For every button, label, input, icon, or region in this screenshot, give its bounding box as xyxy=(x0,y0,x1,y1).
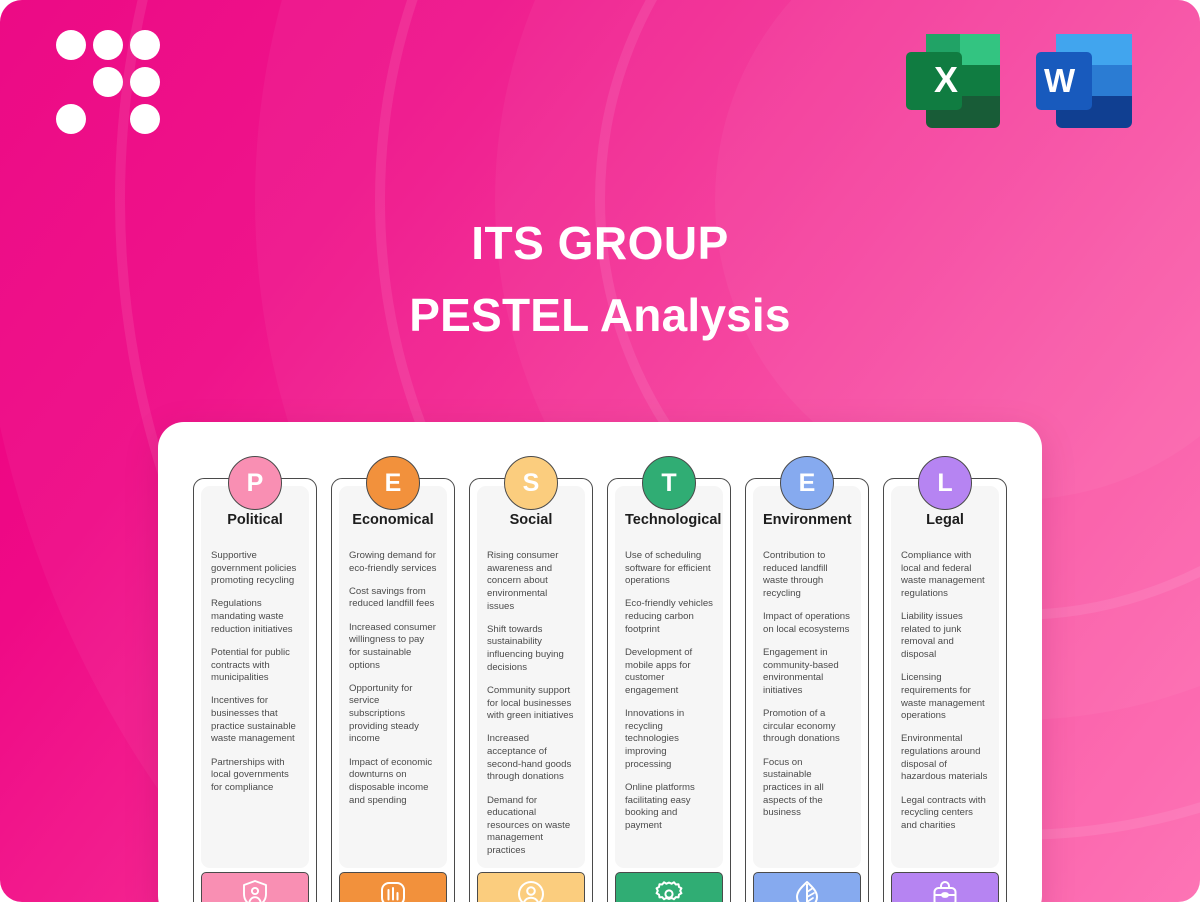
pestel-column-social[interactable]: SocialRising consumer awareness and conc… xyxy=(469,456,593,902)
pestel-bullet: Compliance with local and federal waste … xyxy=(901,550,989,601)
pestel-column-political[interactable]: PoliticalSupportive government policies … xyxy=(193,456,317,902)
poster-heading: ITS GROUP PESTEL Analysis xyxy=(0,218,1200,341)
pestel-bullet: Increased consumer willingness to pay fo… xyxy=(349,622,437,673)
pestel-bullet: Potential for public contracts with muni… xyxy=(211,647,299,685)
pestel-column-environment[interactable]: EnvironmentContribution to reduced landf… xyxy=(745,456,869,902)
pestel-panel: PoliticalSupportive government policies … xyxy=(158,422,1042,902)
pestel-card-body: TechnologicalUse of scheduling software … xyxy=(615,486,723,868)
title-line-two: PESTEL Analysis xyxy=(0,290,1200,342)
pestel-column-title: Technological xyxy=(625,512,713,528)
pestel-letter-badge: T xyxy=(642,456,696,510)
pestel-bullet: Partnerships with local governments for … xyxy=(211,757,299,795)
pestel-letter-badge: L xyxy=(918,456,972,510)
bar-chart-icon xyxy=(378,879,408,902)
person-circle-icon xyxy=(516,879,546,902)
pestel-bullet-list: Growing demand for eco-friendly services… xyxy=(349,550,437,807)
pestel-column-title: Legal xyxy=(901,512,989,528)
pestel-card: EnvironmentContribution to reduced landf… xyxy=(745,478,869,902)
pestel-bullet: Impact of operations on local ecosystems xyxy=(763,611,851,636)
pestel-icon-tile[interactable] xyxy=(201,872,309,902)
pestel-icon-tile[interactable] xyxy=(615,872,723,902)
pestel-bullet: Shift towards sustainability influencing… xyxy=(487,624,575,675)
pestel-column-title: Economical xyxy=(349,512,437,528)
pestel-bullet: Demand for educational resources on wast… xyxy=(487,795,575,858)
pestel-bullet: Cost savings from reduced landfill fees xyxy=(349,586,437,611)
pestel-bullet: Contribution to reduced landfill waste t… xyxy=(763,550,851,601)
pestel-card-body: LegalCompliance with local and federal w… xyxy=(891,486,999,868)
pestel-bullet-list: Use of scheduling software for efficient… xyxy=(625,550,713,832)
pestel-bullet: Growing demand for eco-friendly services xyxy=(349,550,437,575)
pestel-bullet-list: Supportive government policies promoting… xyxy=(211,550,299,795)
its-group-dot-logo xyxy=(56,30,160,134)
pestel-bullet-list: Rising consumer awareness and concern ab… xyxy=(487,550,575,858)
pestel-bullet: Promotion of a circular economy through … xyxy=(763,708,851,746)
pestel-bullet: Innovations in recycling technologies im… xyxy=(625,708,713,771)
pestel-bullet: Engagement in community-based environmen… xyxy=(763,647,851,698)
pestel-bullet: Legal contracts with recycling centers a… xyxy=(901,795,989,833)
pestel-bullet: Development of mobile apps for customer … xyxy=(625,647,713,698)
pestel-bullet-list: Contribution to reduced landfill waste t… xyxy=(763,550,851,820)
pestel-bullet: Community support for local businesses w… xyxy=(487,685,575,723)
pestel-column-legal[interactable]: LegalCompliance with local and federal w… xyxy=(883,456,1007,902)
pestel-bullet: Opportunity for service subscriptions pr… xyxy=(349,683,437,746)
excel-icon: X xyxy=(902,30,1004,132)
logo-dot xyxy=(56,104,86,134)
pestel-card-body: SocialRising consumer awareness and conc… xyxy=(477,486,585,868)
logo-dot xyxy=(93,67,123,97)
logo-dot xyxy=(130,67,160,97)
pestel-bullet: Online platforms facilitating easy booki… xyxy=(625,782,713,833)
pestel-bullet: Liability issues related to junk removal… xyxy=(901,611,989,662)
pestel-column-title: Political xyxy=(211,512,299,528)
pestel-icon-tile[interactable] xyxy=(339,872,447,902)
pestel-card-body: EconomicalGrowing demand for eco-friendl… xyxy=(339,486,447,868)
pestel-bullet: Incentives for businesses that practice … xyxy=(211,695,299,746)
gear-icon xyxy=(654,879,684,902)
title-line-one: ITS GROUP xyxy=(0,218,1200,270)
pestel-bullet: Regulations mandating waste reduction in… xyxy=(211,598,299,636)
pestel-icon-tile[interactable] xyxy=(753,872,861,902)
pestel-bullet-list: Compliance with local and federal waste … xyxy=(901,550,989,832)
pestel-column-technological[interactable]: TechnologicalUse of scheduling software … xyxy=(607,456,731,902)
briefcase-icon xyxy=(930,879,960,902)
pestel-bullet: Rising consumer awareness and concern ab… xyxy=(487,550,575,613)
svg-text:X: X xyxy=(934,59,958,100)
word-icon: W xyxy=(1034,30,1136,132)
logo-dot xyxy=(130,30,160,60)
pestel-card: SocialRising consumer awareness and conc… xyxy=(469,478,593,902)
pestel-columns: PoliticalSupportive government policies … xyxy=(193,456,1007,902)
leaf-icon xyxy=(792,879,822,902)
pestel-icon-tile[interactable] xyxy=(477,872,585,902)
poster-canvas: X W ITS GROUP PESTEL Analysis PoliticalS… xyxy=(0,0,1200,902)
pestel-letter-badge: S xyxy=(504,456,558,510)
pestel-column-title: Environment xyxy=(763,512,851,528)
logo-dot xyxy=(56,30,86,60)
pestel-bullet: Focus on sustainable practices in all as… xyxy=(763,757,851,820)
pestel-column-economical[interactable]: EconomicalGrowing demand for eco-friendl… xyxy=(331,456,455,902)
pestel-card: EconomicalGrowing demand for eco-friendl… xyxy=(331,478,455,902)
pestel-column-title: Social xyxy=(487,512,575,528)
pestel-bullet: Increased acceptance of second-hand good… xyxy=(487,733,575,784)
pestel-letter-badge: E xyxy=(366,456,420,510)
pestel-bullet: Impact of economic downturns on disposab… xyxy=(349,757,437,808)
pestel-letter-badge: P xyxy=(228,456,282,510)
pestel-card: TechnologicalUse of scheduling software … xyxy=(607,478,731,902)
pestel-bullet: Eco-friendly vehicles reducing carbon fo… xyxy=(625,598,713,636)
pestel-card: PoliticalSupportive government policies … xyxy=(193,478,317,902)
pestel-bullet: Supportive government policies promoting… xyxy=(211,550,299,588)
svg-text:W: W xyxy=(1044,62,1076,99)
pestel-card-body: EnvironmentContribution to reduced landf… xyxy=(753,486,861,868)
pestel-letter-badge: E xyxy=(780,456,834,510)
shield-person-icon xyxy=(240,879,270,902)
pestel-card: LegalCompliance with local and federal w… xyxy=(883,478,1007,902)
logo-dot xyxy=(130,104,160,134)
pestel-bullet: Environmental regulations around disposa… xyxy=(901,733,989,784)
logo-dot xyxy=(93,30,123,60)
pestel-icon-tile[interactable] xyxy=(891,872,999,902)
pestel-bullet: Use of scheduling software for efficient… xyxy=(625,550,713,588)
pestel-card-body: PoliticalSupportive government policies … xyxy=(201,486,309,868)
pestel-bullet: Licensing requirements for waste managem… xyxy=(901,672,989,723)
